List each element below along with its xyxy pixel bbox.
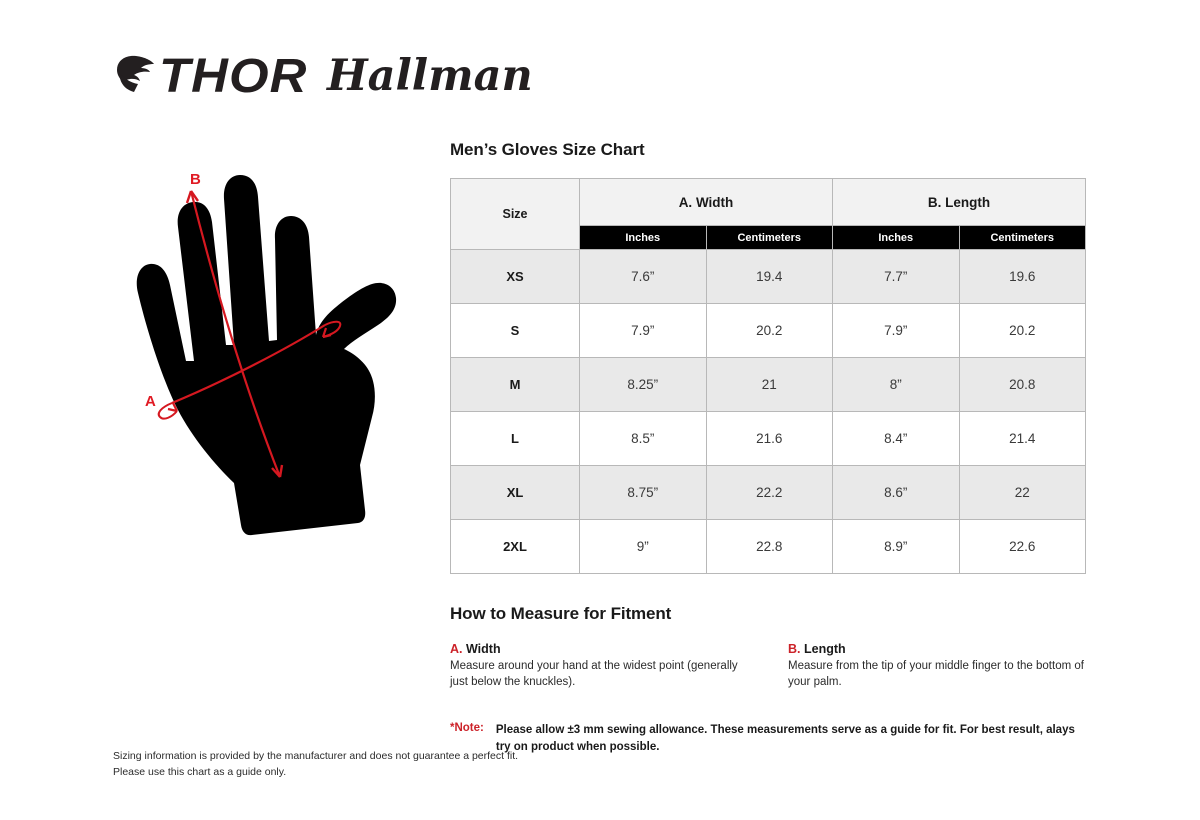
measure-name: Width [466, 642, 501, 656]
column-header-length-centimeters: Centimeters [959, 226, 1086, 250]
cell-length-centimeters: 20.8 [959, 358, 1086, 412]
cell-width-centimeters: 21 [706, 358, 833, 412]
table-head: Size A. Width B. Length Inches Centimete… [451, 179, 1086, 250]
cell-length-inches: 8.4” [833, 412, 960, 466]
table-row: XL 8.75” 22.2 8.6” 22 [451, 466, 1086, 520]
table-row: M 8.25” 21 8” 20.8 [451, 358, 1086, 412]
column-group-width: A. Width [580, 179, 833, 226]
cell-width-centimeters: 19.4 [706, 250, 833, 304]
cell-size: L [451, 412, 580, 466]
cell-width-centimeters: 21.6 [706, 412, 833, 466]
figure-label-b: B [190, 171, 201, 188]
measure-description: Measure from the tip of your middle fing… [788, 659, 1086, 690]
column-header-width-inches: Inches [580, 226, 707, 250]
cell-length-centimeters: 21.4 [959, 412, 1086, 466]
cell-size: M [451, 358, 580, 412]
cell-width-inches: 8.25” [580, 358, 707, 412]
cell-size: XS [451, 250, 580, 304]
footer-disclaimer: Sizing information is provided by the ma… [113, 748, 518, 781]
table-row: S 7.9” 20.2 7.9” 20.2 [451, 304, 1086, 358]
table-body: XS 7.6” 19.4 7.7” 19.6 S 7.9” 20.2 7.9” … [451, 250, 1086, 574]
cell-length-centimeters: 19.6 [959, 250, 1086, 304]
cell-length-centimeters: 20.2 [959, 304, 1086, 358]
footer-line-1: Sizing information is provided by the ma… [113, 748, 518, 764]
cell-size: 2XL [451, 520, 580, 574]
measure-item-length: B. Length Measure from the tip of your m… [788, 642, 1086, 690]
cell-width-centimeters: 22.8 [706, 520, 833, 574]
note-text: Please allow ±3 mm sewing allowance. The… [496, 722, 1086, 755]
glove-measurement-figure: B A [120, 165, 430, 545]
hallman-logo: Hallman [327, 55, 533, 98]
cell-width-centimeters: 22.2 [706, 466, 833, 520]
cell-size: S [451, 304, 580, 358]
cell-width-inches: 9” [580, 520, 707, 574]
measure-description: Measure around your hand at the widest p… [450, 659, 748, 690]
table-header-row-groups: Size A. Width B. Length [451, 179, 1086, 226]
cell-length-centimeters: 22.6 [959, 520, 1086, 574]
how-to-measure-title: How to Measure for Fitment [450, 604, 1086, 624]
cell-length-inches: 7.7” [833, 250, 960, 304]
cell-size: XL [451, 466, 580, 520]
cell-length-centimeters: 22 [959, 466, 1086, 520]
helmet-icon [113, 52, 157, 101]
size-chart-table: Size A. Width B. Length Inches Centimete… [450, 178, 1086, 574]
measure-name: Length [804, 642, 846, 656]
size-chart-page: THOR Hallman B A Men’s Gl [0, 0, 1200, 820]
cell-width-inches: 7.9” [580, 304, 707, 358]
column-group-length: B. Length [833, 179, 1086, 226]
table-row: 2XL 9” 22.8 8.9” 22.6 [451, 520, 1086, 574]
note-section: *Note: Please allow ±3 mm sewing allowan… [450, 722, 1086, 755]
column-header-size: Size [451, 179, 580, 250]
cell-width-inches: 8.5” [580, 412, 707, 466]
glove-silhouette-icon [137, 175, 396, 535]
brand-logo-bar: THOR Hallman [113, 52, 533, 101]
cell-length-inches: 7.9” [833, 304, 960, 358]
measure-item-heading: A. Width [450, 642, 748, 656]
cell-width-centimeters: 20.2 [706, 304, 833, 358]
cell-length-inches: 8” [833, 358, 960, 412]
cell-length-inches: 8.9” [833, 520, 960, 574]
measure-item-heading: B. Length [788, 642, 1086, 656]
column-header-width-centimeters: Centimeters [706, 226, 833, 250]
cell-width-inches: 7.6” [580, 250, 707, 304]
how-to-measure-columns: A. Width Measure around your hand at the… [450, 642, 1086, 690]
measure-letter: B. [788, 642, 801, 656]
figure-label-a: A [145, 393, 156, 410]
cell-width-inches: 8.75” [580, 466, 707, 520]
thor-logo: THOR [113, 52, 299, 101]
chart-content: Men’s Gloves Size Chart Size A. Width B.… [450, 140, 1086, 755]
column-header-length-inches: Inches [833, 226, 960, 250]
footer-line-2: Please use this chart as a guide only. [113, 764, 518, 780]
how-to-measure-section: How to Measure for Fitment A. Width Meas… [450, 604, 1086, 690]
page-title: Men’s Gloves Size Chart [450, 140, 1086, 160]
thor-wordmark: THOR [159, 53, 307, 101]
cell-length-inches: 8.6” [833, 466, 960, 520]
measure-letter: A. [450, 642, 463, 656]
table-row: XS 7.6” 19.4 7.7” 19.6 [451, 250, 1086, 304]
table-row: L 8.5” 21.6 8.4” 21.4 [451, 412, 1086, 466]
measure-item-width: A. Width Measure around your hand at the… [450, 642, 748, 690]
